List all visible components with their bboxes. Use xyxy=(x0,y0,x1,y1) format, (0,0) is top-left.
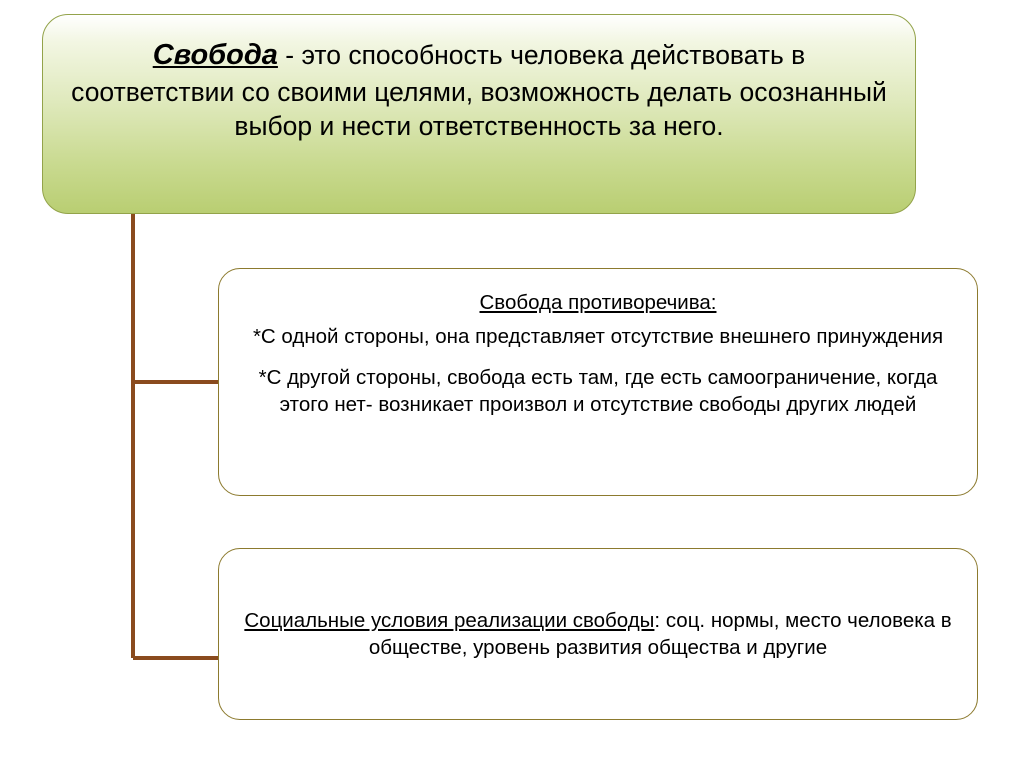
slide-canvas: Свобода - это способность человека дейст… xyxy=(0,0,1024,767)
social-conditions-box: Социальные условия реализации свободы: с… xyxy=(218,548,978,720)
contradiction-heading: Свобода противоречива: xyxy=(243,289,953,317)
definition-text: Свобода - это способность человека дейст… xyxy=(69,37,889,144)
contradiction-paragraph-1: *С одной стороны, она представляет отсут… xyxy=(243,323,953,350)
definition-box: Свобода - это способность человека дейст… xyxy=(42,14,916,214)
contradiction-paragraph-2: *С другой стороны, свобода есть там, где… xyxy=(243,364,953,418)
definition-keyword: Свобода xyxy=(153,39,278,71)
social-conditions-text: Социальные условия реализации свободы: с… xyxy=(243,607,953,661)
social-conditions-lead: Социальные условия реализации свободы xyxy=(244,609,654,632)
contradiction-box: Свобода противоречива: *С одной стороны,… xyxy=(218,268,978,496)
